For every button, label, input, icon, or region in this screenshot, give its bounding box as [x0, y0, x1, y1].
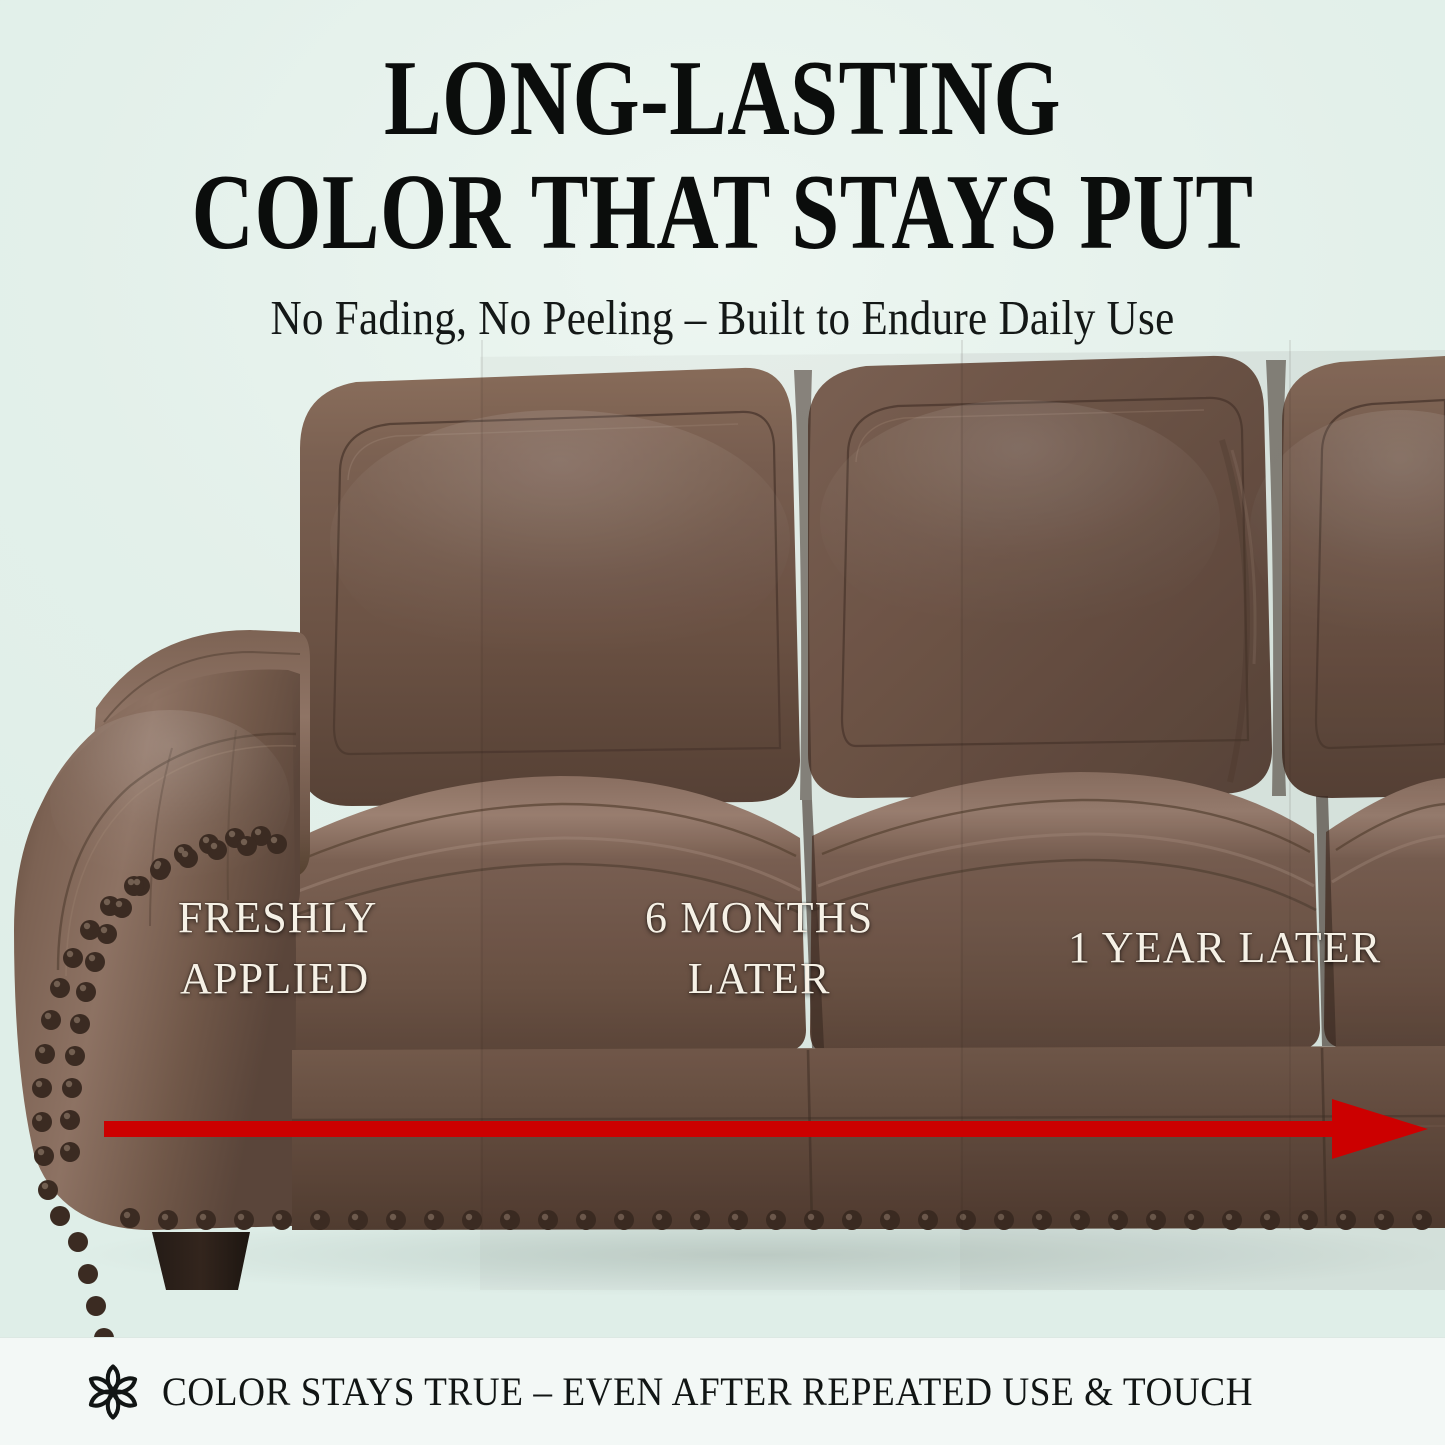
headline-line-1: LONG-LASTING [145, 48, 1301, 150]
red-arrow-icon [104, 1099, 1428, 1159]
footer-text: COLOR STAYS TRUE – EVEN AFTER REPEATED U… [162, 1368, 1253, 1415]
subtitle: No Fading, No Peeling – Built to Endure … [87, 289, 1359, 346]
stage-label-freshly-applied: FRESHLY APPLIED [178, 888, 378, 1009]
product-marketing-poster: LONG-LASTING COLOR THAT STAYS PUT No Fad… [0, 0, 1445, 1445]
stage-label-line-2: LATER [645, 949, 873, 1010]
timeline-arrow [0, 1085, 1445, 1175]
sofa-product-photo [0, 330, 1445, 1340]
header-block: LONG-LASTING COLOR THAT STAYS PUT No Fad… [0, 0, 1445, 346]
stage-label-line-1: 6 MONTHS [645, 893, 873, 942]
stage-label-line-1: FRESHLY [178, 893, 378, 942]
headline-line-2: COLOR THAT STAYS PUT [145, 162, 1301, 264]
flower-rosette-icon [84, 1363, 142, 1421]
stage-label-line-1: 1 YEAR LATER [1068, 923, 1381, 972]
stage-label-1-year-later: 1 YEAR LATER [1068, 918, 1381, 979]
footer-banner: COLOR STAYS TRUE – EVEN AFTER REPEATED U… [0, 1337, 1445, 1445]
stage-label-6-months-later: 6 MONTHS LATER [645, 888, 873, 1009]
stage-label-line-2: APPLIED [178, 949, 378, 1010]
